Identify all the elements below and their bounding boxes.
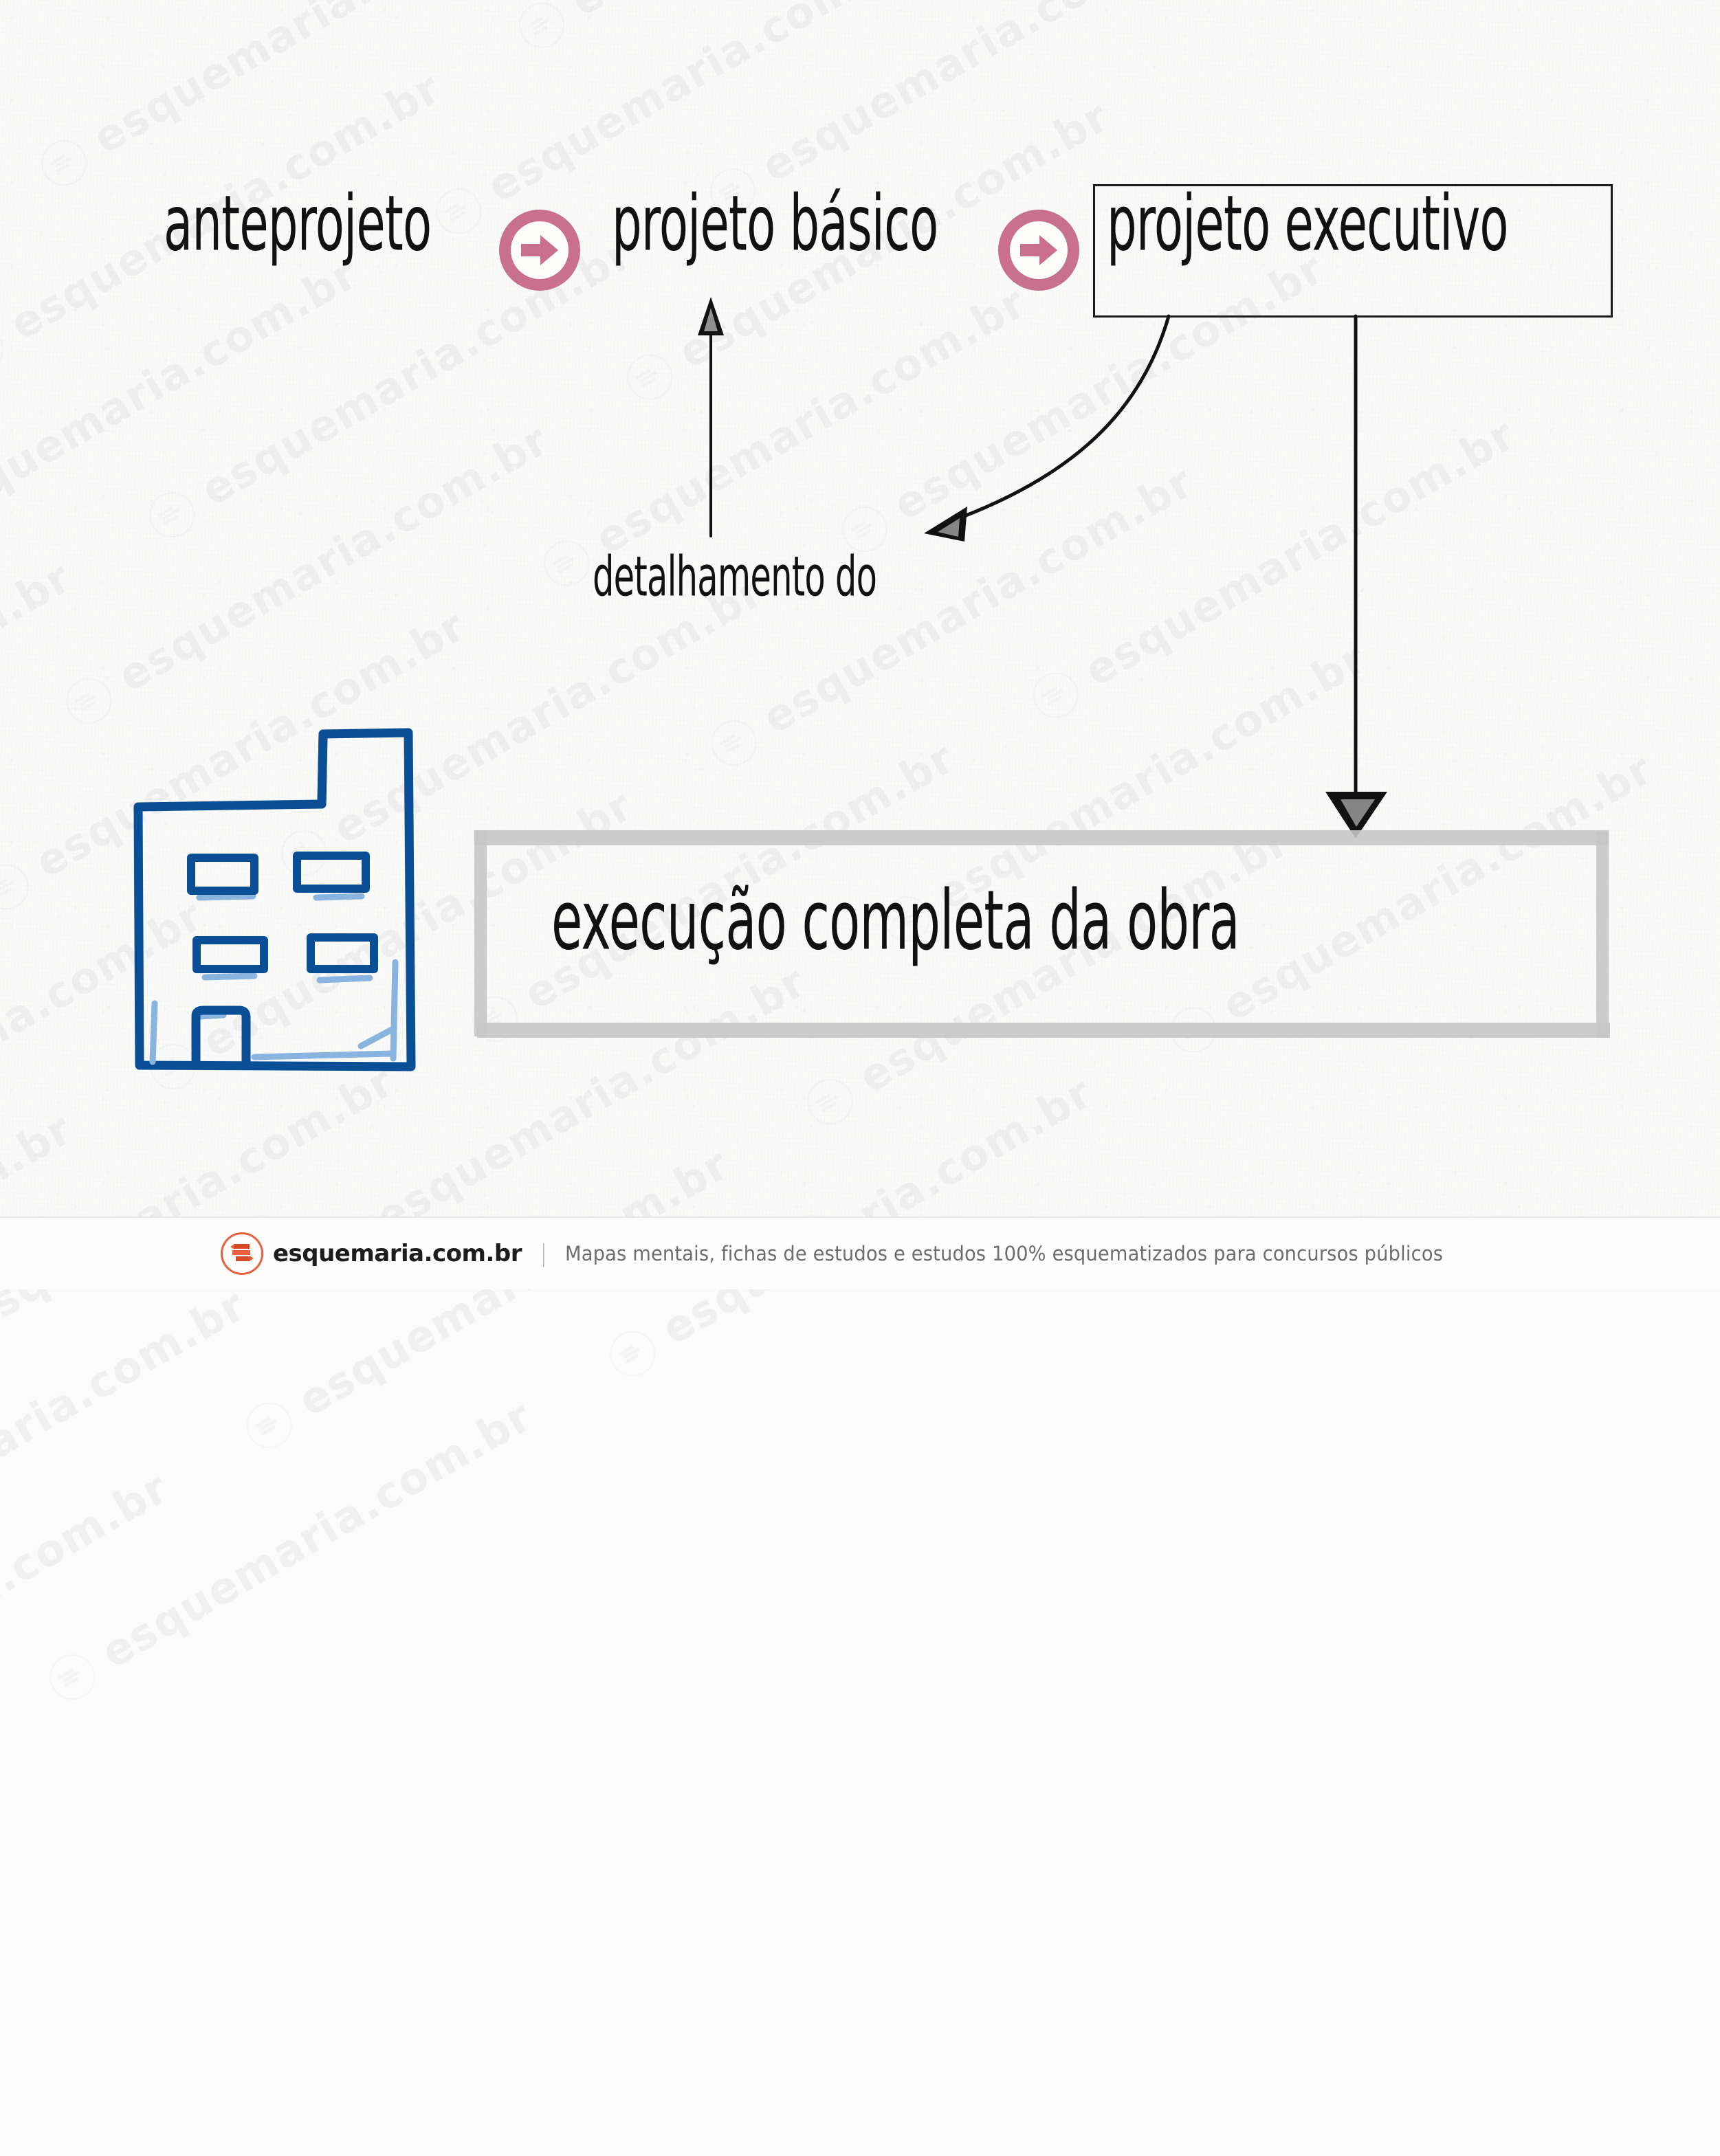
flow-step-anteprojeto: anteprojeto	[164, 179, 431, 269]
diagram-canvas: anteprojeto projeto básico projeto execu…	[0, 0, 1720, 1289]
annotation-detalhamento: detalhamento do	[593, 544, 876, 609]
box-edge-top	[474, 830, 1609, 845]
esquemaria-logo-icon	[221, 1232, 263, 1275]
watermark-text: esquemaria.com.br	[0, 1462, 177, 1749]
footer-tagline: Mapas mentais, fichas de estudos e estud…	[565, 1242, 1443, 1265]
arrow-projeto-executivo-to-detalhamento	[924, 316, 1169, 542]
watermark-text: esquemaria.com.br	[0, 1279, 254, 1566]
box-edge-bottom	[477, 1023, 1610, 1038]
flow-row: anteprojeto projeto básico projeto execu…	[0, 180, 1720, 318]
circle-right-arrow-icon	[998, 210, 1079, 291]
arrow-detalhamento-to-projeto-basico	[698, 297, 724, 536]
footer-separator: |	[540, 1240, 547, 1267]
execucao-result-box: execução completa da obra	[474, 830, 1609, 1038]
watermark-text: esquemaria.com.br	[93, 1390, 540, 1678]
circle-right-arrow-icon	[499, 210, 580, 291]
site-footer: esquemaria.com.br | Mapas mentais, ficha…	[0, 1216, 1720, 1289]
flow-step-projeto-executivo: projeto executivo	[1107, 179, 1508, 269]
footer-brand: esquemaria.com.br	[273, 1240, 522, 1267]
annotation-execucao-completa: execução completa da obra	[551, 873, 1239, 968]
building-sketch-icon	[117, 708, 447, 1093]
flow-step-projeto-basico: projeto básico	[612, 179, 938, 269]
box-edge-right	[1596, 832, 1609, 1038]
box-edge-left	[474, 830, 487, 1036]
arrow-projeto-executivo-to-execucao	[1325, 316, 1387, 838]
